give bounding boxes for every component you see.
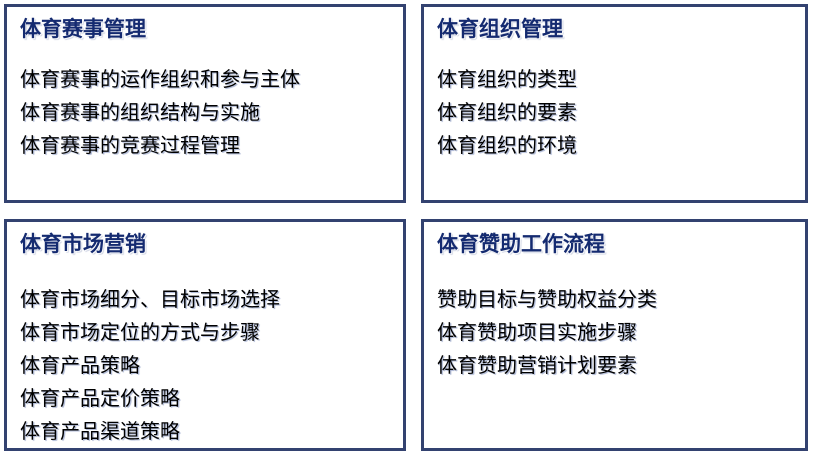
panel-topic-list: 体育组织的类型 体育组织的要素 体育组织的环境 bbox=[437, 64, 801, 163]
panel-topic-list: 体育赛事的运作组织和参与主体 体育赛事的组织结构与实施 体育赛事的竞赛过程管理 bbox=[20, 64, 399, 163]
panel-sports-sponsorship-workflow[interactable]: 体育赞助工作流程 赞助目标与赞助权益分类 体育赞助项目实施步骤 体育赞助营销计划… bbox=[421, 219, 808, 451]
panel-sports-organization-management[interactable]: 体育组织管理 体育组织的类型 体育组织的要素 体育组织的环境 bbox=[421, 4, 808, 203]
panel-sports-event-management[interactable]: 体育赛事管理 体育赛事的运作组织和参与主体 体育赛事的组织结构与实施 体育赛事的… bbox=[4, 4, 406, 203]
panel-sports-market-marketing[interactable]: 体育市场营销 体育市场细分、目标市场选择 体育市场定位的方式与步骤 体育产品策略… bbox=[4, 219, 406, 451]
panel-title: 体育组织管理 bbox=[437, 16, 563, 43]
list-item: 体育产品定价策略 bbox=[20, 383, 399, 416]
list-item: 体育赛事的运作组织和参与主体 bbox=[20, 64, 399, 97]
list-item: 体育产品策略 bbox=[20, 350, 399, 383]
list-item: 体育赞助营销计划要素 bbox=[437, 350, 801, 383]
panel-topic-list: 赞助目标与赞助权益分类 体育赞助项目实施步骤 体育赞助营销计划要素 bbox=[437, 284, 801, 383]
list-item: 体育产品渠道策略 bbox=[20, 416, 399, 449]
list-item: 体育组织的环境 bbox=[437, 130, 801, 163]
list-item: 体育赞助项目实施步骤 bbox=[437, 317, 801, 350]
list-item: 体育组织的要素 bbox=[437, 97, 801, 130]
list-item: 赞助目标与赞助权益分类 bbox=[437, 284, 801, 317]
list-item: 体育赛事的竞赛过程管理 bbox=[20, 130, 399, 163]
panel-title: 体育赞助工作流程 bbox=[437, 231, 605, 258]
list-item: 体育赛事的组织结构与实施 bbox=[20, 97, 399, 130]
panel-grid: 体育赛事管理 体育赛事的运作组织和参与主体 体育赛事的组织结构与实施 体育赛事的… bbox=[0, 0, 823, 456]
panel-title: 体育赛事管理 bbox=[20, 16, 146, 43]
list-item: 体育组织的类型 bbox=[437, 64, 801, 97]
list-item: 体育市场细分、目标市场选择 bbox=[20, 284, 399, 317]
list-item: 体育市场定位的方式与步骤 bbox=[20, 317, 399, 350]
panel-title: 体育市场营销 bbox=[20, 231, 146, 258]
panel-topic-list: 体育市场细分、目标市场选择 体育市场定位的方式与步骤 体育产品策略 体育产品定价… bbox=[20, 284, 399, 449]
